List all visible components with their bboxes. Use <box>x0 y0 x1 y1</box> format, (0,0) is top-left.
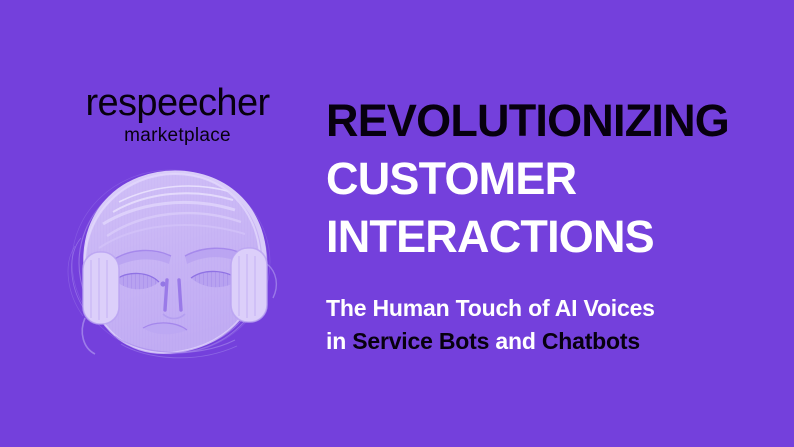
subtitle-line-1: The Human Touch of AI Voices <box>326 292 766 325</box>
headline-line-1: REVOLUTIONIZING <box>326 92 766 150</box>
subtitle-text-primary: The Human Touch of AI Voices <box>326 295 655 321</box>
logo-wordmark: respeecher <box>70 84 285 122</box>
headline-line-2: CUSTOMER <box>326 150 766 208</box>
subtitle-connector-and: and <box>489 328 542 354</box>
headphone-right-cup <box>231 248 276 322</box>
logo-sublabel: marketplace <box>70 124 285 148</box>
subtitle-keyword-chatbots: Chatbots <box>542 328 640 354</box>
headphone-left-cup <box>82 252 119 354</box>
face-with-headphones-illustration <box>55 168 295 364</box>
subtitle-block: The Human Touch of AI Voices in Service … <box>326 292 766 358</box>
respeecher-logo[interactable]: respeecher marketplace <box>70 84 285 148</box>
subtitle-keyword-service-bots: Service Bots <box>352 328 489 354</box>
subtitle-connector-in: in <box>326 328 352 354</box>
subtitle-line-2: in Service Bots and Chatbots <box>326 325 766 358</box>
promo-banner: respeecher marketplace <box>0 0 794 447</box>
headline-line-3: INTERACTIONS <box>326 208 766 266</box>
copy-block: REVOLUTIONIZING CUSTOMER INTERACTIONS Th… <box>326 92 766 358</box>
